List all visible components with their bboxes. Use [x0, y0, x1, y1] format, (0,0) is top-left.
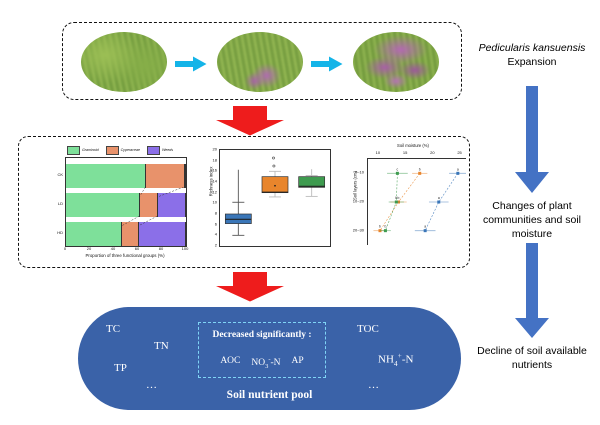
- community-change-text: Changes of plant communities and soil mo…: [483, 200, 581, 240]
- legend-label: Cyperaceae: [121, 148, 140, 152]
- photo-heavy-invasion-grassland: [353, 32, 439, 92]
- diagram-canvas: Pedicularis kansuensis Expansion Changes…: [0, 0, 600, 425]
- soil-data-point: [395, 201, 398, 204]
- soil-moisture-series: aaabbbcbb: [368, 159, 466, 245]
- soil-nutrient-pool: TC TN TP … TOC NH4+-N … Decreased signif…: [78, 307, 461, 410]
- svg-text:b: b: [379, 225, 381, 229]
- photo-early-invasion-grassland: [217, 32, 303, 92]
- photo-sequence-box: [62, 22, 462, 100]
- decreased-item-ap: AP: [292, 356, 304, 370]
- decreased-item-aoc: AOC: [220, 356, 240, 370]
- bar-segment-graminoid: [66, 193, 140, 217]
- decreased-items: AOC NO3--N AP: [199, 356, 325, 370]
- decreased-heading: Decreased significantly :: [199, 330, 325, 340]
- bar-segment-cyperaceae: [122, 222, 139, 246]
- boxplot-box-ld: [262, 177, 288, 193]
- expansion-word: Expansion: [507, 56, 556, 68]
- bar-segment-cyperaceae: [140, 193, 158, 217]
- legend-label: Graminoid: [82, 148, 99, 152]
- nutrient-label-tp: TP: [114, 362, 127, 374]
- boxplot-ytick-label: 14: [213, 179, 217, 184]
- soil-data-point: [437, 201, 440, 204]
- right-label-expansion: Pedicularis kansuensis Expansion: [466, 42, 598, 70]
- bar-segment-graminoid: [66, 222, 122, 246]
- blue-down-arrow-icon: [508, 243, 556, 339]
- svg-text:b: b: [395, 196, 397, 200]
- soil-data-point: [424, 229, 427, 232]
- boxplot-plot-area: [219, 149, 331, 247]
- svg-text:a: a: [424, 225, 426, 229]
- bar-xtick-label: 40: [111, 246, 115, 251]
- legend-swatch: [106, 146, 119, 155]
- bar-xtick-label: 60: [135, 246, 139, 251]
- svg-text:b: b: [419, 167, 421, 171]
- boxplot-yticks: 2468101214161820: [197, 149, 218, 245]
- boxplot-ytick-label: 8: [215, 211, 217, 216]
- bar-chart-xticks: 020406080100: [65, 246, 185, 253]
- bar-xtick-label: 80: [159, 246, 163, 251]
- soil-layer-label: 10~20: [353, 199, 364, 204]
- boxplot-ytick-label: 2: [215, 243, 217, 248]
- cyan-right-arrow-icon: [311, 56, 343, 72]
- bar-chart-plot-area: [65, 157, 187, 247]
- nutrient-decline-text: Decline of soil available nutrients: [477, 345, 587, 371]
- soil-xtick-label: 10: [376, 150, 380, 155]
- decreased-significantly-box: Decreased significantly : AOC NO3--N AP: [198, 322, 326, 378]
- bar-xtick-label: 100: [182, 246, 189, 251]
- bar-segment-weeds: [139, 222, 186, 246]
- blue-down-arrow-icon: [508, 86, 556, 194]
- nutrient-label-toc: TOC: [357, 323, 379, 335]
- legend-swatch: [147, 146, 160, 155]
- svg-text:b: b: [398, 196, 400, 200]
- right-label-nutrient-decline: Decline of soil available nutrients: [466, 345, 598, 373]
- boxplot-ytick-label: 20: [213, 147, 217, 152]
- legend-item-cyperaceae: Cyperaceae: [106, 146, 140, 155]
- red-down-arrow-icon: [215, 272, 285, 302]
- soil-xtick-label: 15: [403, 150, 407, 155]
- boxplot-ytick-label: 10: [213, 200, 217, 205]
- bar-segment-weeds: [158, 193, 186, 217]
- legend-label: Weeds: [162, 148, 173, 152]
- boxplot-ytick-label: 4: [215, 232, 217, 237]
- bar-segment-cyperaceae: [146, 164, 184, 188]
- bar-chart-legend: GraminoidCyperaceaeWeeds: [67, 145, 189, 155]
- bar-xtick-label: 20: [87, 246, 91, 251]
- boxplot-ytick-label: 12: [213, 189, 217, 194]
- boxplot-ytick-label: 16: [213, 168, 217, 173]
- decreased-item-no3-n: NO3--N: [251, 356, 280, 370]
- svg-text:a: a: [457, 167, 459, 171]
- bar-segment-graminoid: [66, 164, 146, 188]
- svg-text:a: a: [438, 196, 440, 200]
- svg-text:c: c: [397, 167, 399, 171]
- nutrient-label-tn: TN: [154, 340, 169, 352]
- soil-xtick-label: 20: [430, 150, 434, 155]
- soil-data-point: [456, 172, 459, 175]
- soil-data-point: [396, 172, 399, 175]
- charts-container: GraminoidCyperaceaeWeeds P. kansuensis d…: [18, 136, 470, 268]
- red-down-arrow-icon: [215, 106, 285, 136]
- cyan-right-arrow-icon: [175, 56, 207, 72]
- species-name: Pedicularis kansuensis: [479, 42, 586, 54]
- bar-category-label: CK: [47, 172, 63, 177]
- soil-moisture-title: Soil moisture (%): [359, 143, 467, 148]
- nutrient-label-tc: TC: [106, 323, 120, 335]
- functional-group-bar-chart: GraminoidCyperaceaeWeeds P. kansuensis d…: [27, 143, 192, 263]
- legend-item-weeds: Weeds: [147, 146, 173, 155]
- bar-category-label: HD: [47, 230, 63, 235]
- soil-layer-label: 0~10: [355, 170, 364, 175]
- soil-xtick-label: 25: [457, 150, 461, 155]
- legend-item-graminoid: Graminoid: [67, 146, 99, 155]
- soil-nutrient-pool-title: Soil nutrient pool: [78, 389, 461, 401]
- boxplot-series: [220, 150, 330, 246]
- soil-moisture-xticks: 10152025: [367, 150, 465, 157]
- boxplot-ytick-label: 6: [215, 221, 217, 226]
- bar-row: [66, 164, 186, 188]
- soil-layer-label: 20~30: [353, 227, 364, 232]
- soil-data-point: [384, 229, 387, 232]
- nutrient-label-nh4-n: NH4+-N: [378, 351, 413, 368]
- photo-healthy-grassland: [81, 32, 167, 92]
- soil-moisture-chart: Soil moisture (%) 10152025 Soil layers (…: [341, 143, 469, 263]
- bar-segment-weeds: [185, 164, 186, 188]
- bar-row: [66, 222, 186, 246]
- bar-row: [66, 193, 186, 217]
- svg-text:b: b: [384, 225, 386, 229]
- bar-chart-xlabel: Proportion of three functional groups (%…: [55, 253, 195, 258]
- bar-xtick-label: 0: [64, 246, 66, 251]
- soil-moisture-yticks: 0~1010~2020~30: [333, 158, 366, 244]
- right-label-community-change: Changes of plant communities and soil mo…: [466, 200, 598, 242]
- bar-category-label: LD: [47, 201, 63, 206]
- soil-data-point: [418, 172, 421, 175]
- soil-moisture-plot-area: aaabbbcbb: [367, 158, 466, 245]
- boxplot-ytick-label: 18: [213, 157, 217, 162]
- richness-boxplot-chart: Richness index 2468101214161820: [197, 143, 337, 263]
